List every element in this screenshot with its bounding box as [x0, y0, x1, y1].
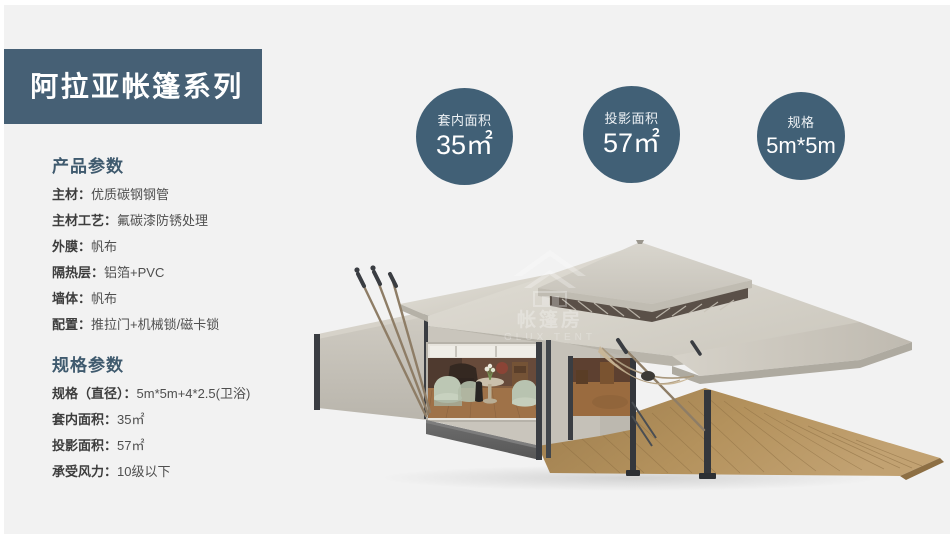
- stat-badge-interior-area: 套内面积 35㎡: [416, 88, 513, 185]
- spec-params-block: 规格参数 规格（直径）：5m*5m+4*2.5(卫浴) 套内面积：35㎡ 投影面…: [52, 351, 352, 478]
- top-white-strip: [0, 0, 950, 5]
- spec-value: 铝箔+PVC: [104, 265, 164, 280]
- spec-value: 帆布: [91, 291, 117, 306]
- spec-row: 投影面积：57㎡: [52, 439, 352, 452]
- stat-badge-label: 套内面积: [437, 114, 491, 127]
- stat-badge-label: 规格: [787, 116, 814, 129]
- spec-label: 隔热层：: [52, 265, 104, 280]
- page-title: 阿拉亚帐篷系列: [18, 73, 244, 101]
- spec-value: 推拉门+机械锁/磁卡锁: [91, 317, 219, 332]
- spec-row: 承受风力：10级以下: [52, 465, 352, 478]
- spec-label: 投影面积：: [52, 438, 117, 453]
- spec-label: 主材：: [52, 187, 91, 202]
- spec-row: 主材：优质碳钢钢管: [52, 188, 352, 201]
- spec-label: 配置：: [52, 317, 91, 332]
- stat-badge-projected-area: 投影面积 57㎡: [583, 86, 680, 183]
- stat-badge-size: 规格 5m*5m: [757, 92, 845, 180]
- spec-value: 氟碳漆防锈处理: [117, 213, 208, 228]
- svg-text:帐篷房: 帐篷房: [517, 308, 583, 331]
- page-root: 阿拉亚帐篷系列 产品参数 主材：优质碳钢钢管 主材工艺：氟碳漆防锈处理 外膜：帆…: [0, 0, 950, 534]
- spec-value: 帆布: [91, 239, 117, 254]
- tent-illustration: 帐篷房 GLUX TENT: [300, 230, 950, 505]
- spec-value: 5m*5m+4*2.5(卫浴): [137, 386, 251, 401]
- spec-params-list: 规格（直径）：5m*5m+4*2.5(卫浴) 套内面积：35㎡ 投影面积：57㎡…: [52, 387, 352, 478]
- stat-badge-value: 5m*5m: [766, 135, 836, 157]
- spec-value: 57㎡: [117, 438, 144, 453]
- specs-column: 产品参数 主材：优质碳钢钢管 主材工艺：氟碳漆防锈处理 外膜：帆布 隔热层：铝箔…: [52, 152, 352, 491]
- spec-label: 主材工艺：: [52, 213, 117, 228]
- spec-label: 外膜：: [52, 239, 91, 254]
- spec-row: 外膜：帆布: [52, 240, 352, 253]
- spec-label: 承受风力：: [52, 464, 117, 479]
- product-params-list: 主材：优质碳钢钢管 主材工艺：氟碳漆防锈处理 外膜：帆布 隔热层：铝箔+PVC …: [52, 188, 352, 331]
- spec-label: 墙体：: [52, 291, 91, 306]
- spec-value: 35㎡: [117, 412, 144, 427]
- stat-badge-value: 57㎡: [603, 130, 660, 157]
- spec-row: 主材工艺：氟碳漆防锈处理: [52, 214, 352, 227]
- product-params-block: 产品参数 主材：优质碳钢钢管 主材工艺：氟碳漆防锈处理 外膜：帆布 隔热层：铝箔…: [52, 152, 352, 331]
- stat-badge-label: 投影面积: [604, 112, 658, 125]
- left-white-edge: [0, 0, 4, 534]
- spec-row: 规格（直径）：5m*5m+4*2.5(卫浴): [52, 387, 352, 400]
- spec-row: 配置：推拉门+机械锁/磁卡锁: [52, 318, 352, 331]
- product-params-heading: 产品参数: [52, 152, 352, 177]
- spec-label: 套内面积：: [52, 412, 117, 427]
- spec-row: 墙体：帆布: [52, 292, 352, 305]
- title-banner: 阿拉亚帐篷系列: [0, 49, 262, 124]
- spec-label: 规格（直径）：: [52, 386, 137, 401]
- spec-row: 套内面积：35㎡: [52, 413, 352, 426]
- spec-value: 优质碳钢钢管: [91, 187, 169, 202]
- svg-text:GLUX TENT: GLUX TENT: [504, 332, 596, 343]
- spec-value: 10级以下: [117, 464, 170, 479]
- spec-params-heading: 规格参数: [52, 351, 352, 376]
- stat-badge-value: 35㎡: [436, 132, 493, 159]
- spec-row: 隔热层：铝箔+PVC: [52, 266, 352, 279]
